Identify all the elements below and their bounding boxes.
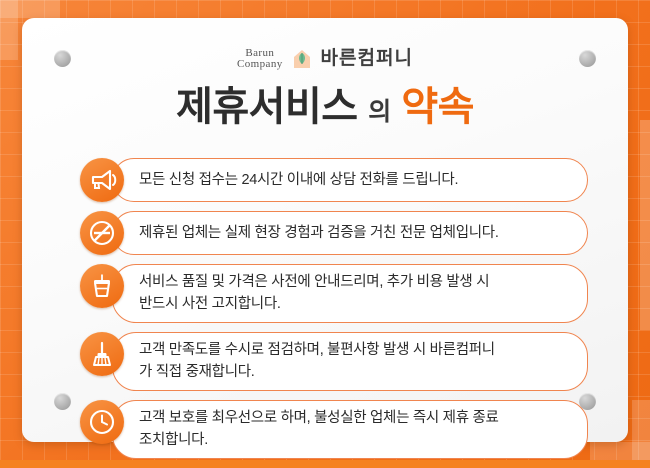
clock-icon xyxy=(80,400,124,444)
promise-list: 모든 신청 접수는 24시간 이내에 상담 전화를 드립니다. 제휴된 업체는 … xyxy=(80,158,588,468)
page-title-part1: 제휴서비스 xyxy=(176,85,358,129)
page-title-part3: 약속 xyxy=(401,85,474,129)
megaphone-icon xyxy=(80,158,124,202)
leaf-house-icon xyxy=(292,48,312,70)
list-item: 고객 보호를 최우선으로 하며, 불성실한 업체는 즉시 제휴 종료 조치합니다… xyxy=(80,400,588,459)
drink-cup-icon xyxy=(80,264,124,308)
promise-bubble: 고객 만족도를 수시로 점검하며, 불편사항 발생 시 바른컴퍼니 가 직접 중… xyxy=(112,332,588,391)
list-item: 서비스 품질 및 가격은 사전에 안내드리며, 추가 비용 발생 시 반드시 사… xyxy=(80,264,588,323)
list-item: 모든 신청 접수는 24시간 이내에 상담 전화를 드립니다. xyxy=(80,158,588,202)
brand-name-ko: 바른컴퍼니 xyxy=(321,44,413,74)
list-item: 제휴된 업체는 실제 현장 경험과 검증을 거친 전문 업체입니다. xyxy=(80,211,588,255)
promise-text-line: 고객 만족도를 수시로 점검하며, 불편사항 발생 시 바른컴퍼니 xyxy=(139,339,495,361)
decorative-corner-bottom-right-2 xyxy=(590,442,650,460)
page-title-part2: 의 xyxy=(368,98,391,126)
promise-text-line: 반드시 사전 고지합니다. xyxy=(139,293,489,315)
promise-text-line: 고객 보호를 최우선으로 하며, 불성실한 업체는 즉시 제휴 종료 xyxy=(139,407,499,429)
promise-text-line: 모든 신청 접수는 24시간 이내에 상담 전화를 드립니다. xyxy=(139,169,458,191)
promise-text-line: 가 직접 중재합니다. xyxy=(139,361,495,383)
page-title: 제휴서비스 의 약속 xyxy=(22,74,628,132)
promise-bubble: 고객 보호를 최우선으로 하며, 불성실한 업체는 즉시 제휴 종료 조치합니다… xyxy=(112,400,588,459)
promise-bubble: 모든 신청 접수는 24시간 이내에 상담 전화를 드립니다. xyxy=(112,158,588,202)
brand-name-en-line2: Company xyxy=(237,59,283,70)
screw-bottom-left xyxy=(54,393,71,410)
decorative-corner-top-left-2 xyxy=(0,0,60,18)
brand-logo: Barun Company 바른컴퍼니 xyxy=(22,44,628,74)
promise-bubble: 서비스 품질 및 가격은 사전에 안내드리며, 추가 비용 발생 시 반드시 사… xyxy=(112,264,588,323)
promise-bubble: 제휴된 업체는 실제 현장 경험과 검증을 거친 전문 업체입니다. xyxy=(112,211,588,255)
poster-canvas: Barun Company 바른컴퍼니 제휴서비스 의 약속 xyxy=(0,0,650,460)
promise-text-line: 조치합니다. xyxy=(139,429,499,451)
no-smoking-icon xyxy=(80,211,124,255)
promise-text-line: 서비스 품질 및 가격은 사전에 안내드리며, 추가 비용 발생 시 xyxy=(139,271,489,293)
brand-name-en: Barun Company xyxy=(237,48,283,70)
decorative-stripe xyxy=(640,120,650,330)
promise-text-line: 제휴된 업체는 실제 현장 경험과 검증을 거친 전문 업체입니다. xyxy=(139,222,499,244)
broom-icon xyxy=(80,332,124,376)
poster-board: Barun Company 바른컴퍼니 제휴서비스 의 약속 xyxy=(22,18,628,442)
list-item: 고객 만족도를 수시로 점검하며, 불편사항 발생 시 바른컴퍼니 가 직접 중… xyxy=(80,332,588,391)
